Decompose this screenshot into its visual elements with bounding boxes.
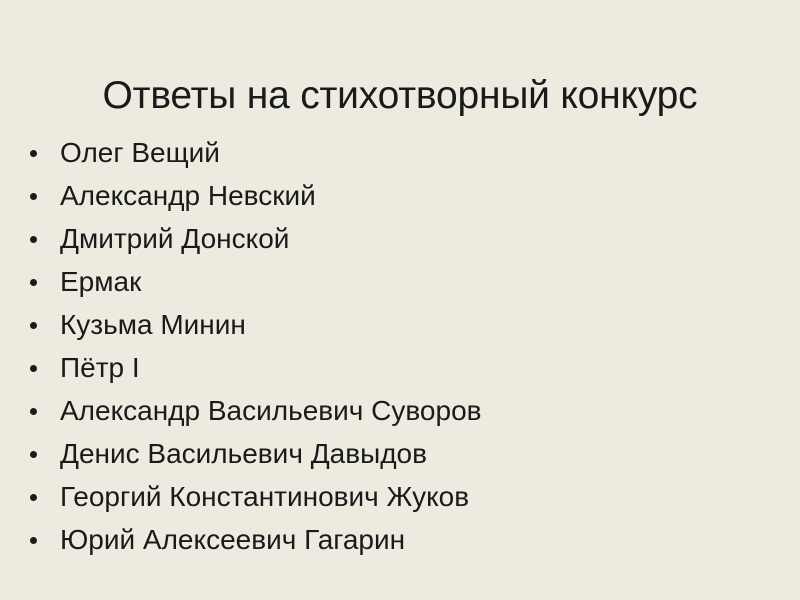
slide-body: Олег Вещий Александр Невский Дмитрий Дон… — [0, 131, 800, 561]
list-item-label: Олег Вещий — [60, 131, 220, 174]
presentation-slide: Ответы на стихотворный конкурс Олег Вещи… — [0, 0, 800, 600]
bullet-dot-icon — [30, 236, 37, 243]
bullet-dot-icon — [30, 451, 37, 458]
list-item-label: Александр Васильевич Суворов — [60, 389, 482, 432]
bullet-dot-icon — [30, 494, 37, 501]
bullet-dot-icon — [30, 150, 37, 157]
list-item: Пётр I — [0, 346, 800, 389]
list-item: Александр Васильевич Суворов — [0, 389, 800, 432]
list-item: Александр Невский — [0, 174, 800, 217]
bullet-dot-icon — [30, 365, 37, 372]
list-item-label: Кузьма Минин — [60, 303, 246, 346]
list-item-label: Дмитрий Донской — [60, 217, 289, 260]
list-item: Георгий Константинович Жуков — [0, 475, 800, 518]
list-item-label: Денис Васильевич Давыдов — [60, 432, 427, 475]
list-item: Олег Вещий — [0, 131, 800, 174]
list-item-label: Пётр I — [60, 346, 140, 389]
list-item: Дмитрий Донской — [0, 217, 800, 260]
bullet-dot-icon — [30, 193, 37, 200]
bullet-dot-icon — [30, 408, 37, 415]
answers-bullet-list: Олег Вещий Александр Невский Дмитрий Дон… — [0, 131, 800, 561]
page-title: Ответы на стихотворный конкурс — [0, 72, 800, 120]
list-item: Кузьма Минин — [0, 303, 800, 346]
list-item-label: Георгий Константинович Жуков — [60, 475, 469, 518]
list-item-label: Александр Невский — [60, 174, 316, 217]
list-item: Денис Васильевич Давыдов — [0, 432, 800, 475]
list-item-label: Юрий Алексеевич Гагарин — [60, 518, 405, 561]
list-item: Юрий Алексеевич Гагарин — [0, 518, 800, 561]
bullet-dot-icon — [30, 279, 37, 286]
list-item-label: Ермак — [60, 260, 141, 303]
list-item: Ермак — [0, 260, 800, 303]
bullet-dot-icon — [30, 322, 37, 329]
bullet-dot-icon — [30, 537, 37, 544]
